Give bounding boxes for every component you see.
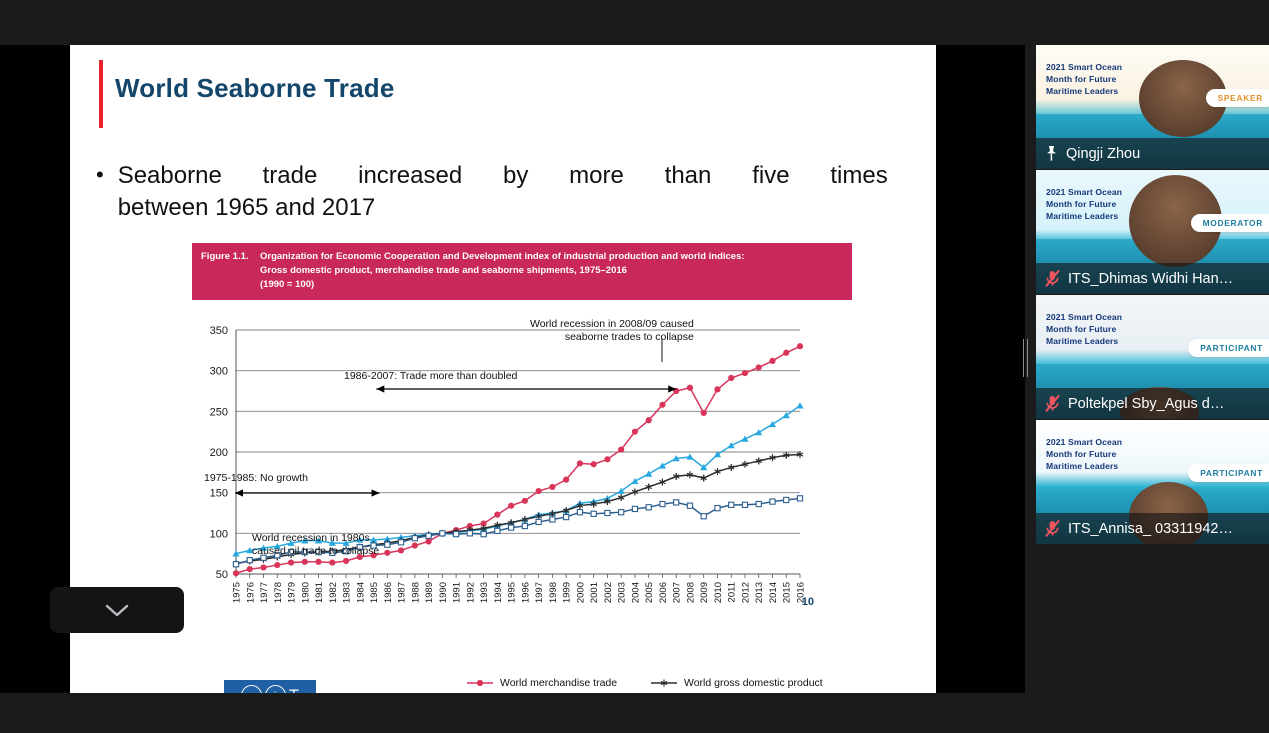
participant-name-bar: Poltekpel Sby_Agus d…: [1036, 388, 1269, 419]
svg-text:2004: 2004: [630, 582, 641, 603]
svg-text:1989: 1989: [424, 582, 435, 603]
svg-text:1998: 1998: [548, 582, 559, 603]
role-badge: PARTICIPANT: [1188, 464, 1269, 482]
svg-text:2002: 2002: [603, 582, 614, 603]
svg-text:1981: 1981: [314, 582, 325, 603]
annotation-trade-doubled: 1986-2007: Trade more than doubled: [344, 370, 517, 382]
svg-text:50: 50: [216, 569, 228, 581]
svg-text:2012: 2012: [740, 582, 751, 603]
annotation-no-growth: 1975-1985: No growth: [204, 472, 308, 484]
chart-legend: World merchandise tradeWorld gross domes…: [467, 677, 881, 693]
svg-text:2001: 2001: [589, 582, 600, 603]
participant-name-bar: ITS_Dhimas Widhi Han…: [1036, 263, 1269, 294]
university-seal-icon: ◉: [241, 685, 262, 694]
bullet-item: Seaborne trade increased by more than fi…: [118, 160, 888, 224]
svg-text:200: 200: [210, 447, 228, 459]
svg-text:350: 350: [210, 325, 228, 337]
svg-text:2000: 2000: [575, 582, 586, 603]
svg-text:1978: 1978: [273, 582, 284, 603]
svg-text:1996: 1996: [520, 582, 531, 603]
microphone-muted-icon: [1044, 394, 1061, 413]
bullet-line-1: Seaborne trade increased by more than fi…: [118, 160, 888, 192]
svg-text:2010: 2010: [713, 582, 724, 603]
zoom-meeting-window: World Seaborne Trade • Seaborne trade in…: [0, 0, 1269, 733]
svg-text:300: 300: [210, 365, 228, 377]
svg-text:150: 150: [210, 487, 228, 499]
svg-text:1987: 1987: [397, 582, 408, 603]
svg-text:2005: 2005: [644, 582, 655, 603]
svg-text:1999: 1999: [562, 582, 573, 603]
svg-text:2011: 2011: [727, 582, 738, 602]
role-badge: SPEAKER: [1206, 89, 1269, 107]
virtual-background-banner: 2021 Smart OceanMonth for FutureMaritime…: [1046, 436, 1122, 473]
svg-text:1988: 1988: [410, 582, 421, 603]
banner-line: Maritime Leaders: [1046, 85, 1122, 97]
legend-label: World gross domestic product: [684, 677, 823, 689]
legend-item: World gross domestic product: [651, 677, 881, 689]
svg-text:2008: 2008: [685, 582, 696, 603]
role-badge: PARTICIPANT: [1188, 339, 1269, 357]
figure-caption-line-2: Gross domestic product, merchandise trad…: [201, 264, 843, 278]
banner-line: Maritime Leaders: [1046, 210, 1122, 222]
svg-text:1975: 1975: [232, 582, 243, 603]
participant-name: ITS_Dhimas Widhi Han…: [1068, 271, 1233, 287]
role-badge: MODERATOR: [1191, 214, 1269, 232]
participant-name: ITS_Annisa_ 03311942…: [1068, 521, 1233, 537]
svg-text:1979: 1979: [287, 582, 298, 603]
svg-text:1994: 1994: [493, 582, 504, 603]
figure-caption-line-1: Organization for Economic Cooperation an…: [260, 250, 843, 264]
annotation-recession-1980-line-1: World recession in 1980s: [252, 532, 379, 546]
svg-text:1985: 1985: [369, 582, 380, 603]
participant-tile[interactable]: 2021 Smart OceanMonth for FutureMaritime…: [1036, 170, 1269, 294]
microphone-muted-icon: [1044, 519, 1061, 538]
svg-text:1983: 1983: [342, 582, 353, 603]
svg-text:2015: 2015: [782, 582, 793, 603]
partner-logo-mark: 天: [289, 690, 300, 694]
svg-text:1997: 1997: [534, 582, 545, 603]
legend-item: World merchandise trade: [467, 677, 637, 689]
virtual-background-banner: 2021 Smart OceanMonth for FutureMaritime…: [1046, 311, 1122, 348]
banner-line: Month for Future: [1046, 198, 1122, 210]
svg-text:1976: 1976: [245, 582, 256, 603]
svg-text:2006: 2006: [658, 582, 669, 603]
participant-tile[interactable]: 2021 Smart OceanMonth for FutureMaritime…: [1036, 45, 1269, 169]
banner-line: Month for Future: [1046, 73, 1122, 85]
svg-text:2003: 2003: [617, 582, 628, 603]
bullet-line-2: between 1965 and 2017: [118, 194, 376, 221]
svg-text:2013: 2013: [754, 582, 765, 603]
bullet-marker-icon: •: [96, 160, 104, 224]
annotation-recession-1980: World recession in 1980s caused oil trad…: [252, 532, 379, 560]
line-chart: 5010015020025030035019751976197719781979…: [192, 322, 852, 652]
participant-name: Poltekpel Sby_Agus d…: [1068, 396, 1224, 412]
annotation-recession-2008: World recession in 2008/09 caused seabor…: [530, 318, 694, 345]
annotation-recession-2008-line-1: World recession in 2008/09 caused: [530, 318, 694, 331]
participant-name-bar: ITS_Annisa_ 03311942…: [1036, 513, 1269, 544]
svg-text:100: 100: [210, 528, 228, 540]
maritime-seal-icon: ⚓: [265, 685, 286, 694]
window-top-bar: [0, 0, 1269, 45]
page-number: 10: [802, 596, 814, 608]
slide-title: World Seaborne Trade: [115, 73, 394, 104]
participant-filmstrip: 2021 Smart OceanMonth for FutureMaritime…: [1036, 45, 1269, 693]
figure-caption-line-3: (1990 = 100): [201, 278, 843, 292]
svg-text:2014: 2014: [768, 582, 779, 603]
svg-text:1995: 1995: [507, 582, 518, 603]
virtual-background-banner: 2021 Smart OceanMonth for FutureMaritime…: [1046, 61, 1122, 98]
participant-tile[interactable]: 2021 Smart OceanMonth for FutureMaritime…: [1036, 295, 1269, 419]
resize-grip-line: [1027, 339, 1028, 377]
svg-text:1991: 1991: [452, 582, 463, 603]
banner-line: 2021 Smart Ocean: [1046, 186, 1122, 198]
participant-name-bar: Qingji Zhou: [1036, 138, 1269, 169]
bullet-list: • Seaborne trade increased by more than …: [96, 160, 904, 224]
svg-text:1992: 1992: [465, 582, 476, 603]
chevron-down-icon: [104, 603, 130, 618]
svg-text:1986: 1986: [383, 582, 394, 603]
panel-resize-handle[interactable]: [1018, 330, 1032, 386]
banner-line: Maritime Leaders: [1046, 335, 1122, 347]
banner-line: Month for Future: [1046, 323, 1122, 335]
banner-line: 2021 Smart Ocean: [1046, 311, 1122, 323]
virtual-background-banner: 2021 Smart OceanMonth for FutureMaritime…: [1046, 186, 1122, 223]
svg-text:1982: 1982: [328, 582, 339, 603]
svg-text:250: 250: [210, 406, 228, 418]
svg-text:1980: 1980: [300, 582, 311, 603]
svg-text:2007: 2007: [672, 582, 683, 603]
filmstrip-scroll-down-button[interactable]: [50, 587, 184, 633]
svg-text:1993: 1993: [479, 582, 490, 603]
banner-line: 2021 Smart Ocean: [1046, 436, 1122, 448]
annotation-recession-2008-line-2: seaborne trades to collapse: [530, 331, 694, 344]
legend-marker-icon: [467, 677, 493, 689]
figure-number: Figure 1.1.: [201, 250, 260, 264]
figure-caption-header: Figure 1.1. Organization for Economic Co…: [192, 243, 852, 300]
svg-text:2009: 2009: [699, 582, 710, 603]
svg-text:1990: 1990: [438, 582, 449, 603]
pin-icon: [1044, 145, 1059, 162]
legend-label: World merchandise trade: [500, 677, 617, 689]
institution-logos: ◉ ⚓ 天: [224, 680, 316, 693]
presentation-slide: World Seaborne Trade • Seaborne trade in…: [70, 45, 936, 693]
participant-name: Qingji Zhou: [1066, 146, 1140, 162]
banner-line: Maritime Leaders: [1046, 460, 1122, 472]
annotation-recession-1980-line-2: caused oil trade to collapse: [252, 545, 379, 559]
microphone-muted-icon: [1044, 269, 1061, 288]
participant-tile[interactable]: 2021 Smart OceanMonth for FutureMaritime…: [1036, 420, 1269, 544]
resize-grip-line: [1023, 339, 1024, 377]
svg-text:1977: 1977: [259, 582, 270, 603]
svg-text:1984: 1984: [355, 582, 366, 603]
banner-line: 2021 Smart Ocean: [1046, 61, 1122, 73]
legend-marker-icon: [651, 677, 677, 689]
banner-line: Month for Future: [1046, 448, 1122, 460]
title-accent-rule: [99, 60, 103, 128]
figure-block: Figure 1.1. Organization for Economic Co…: [192, 243, 852, 652]
